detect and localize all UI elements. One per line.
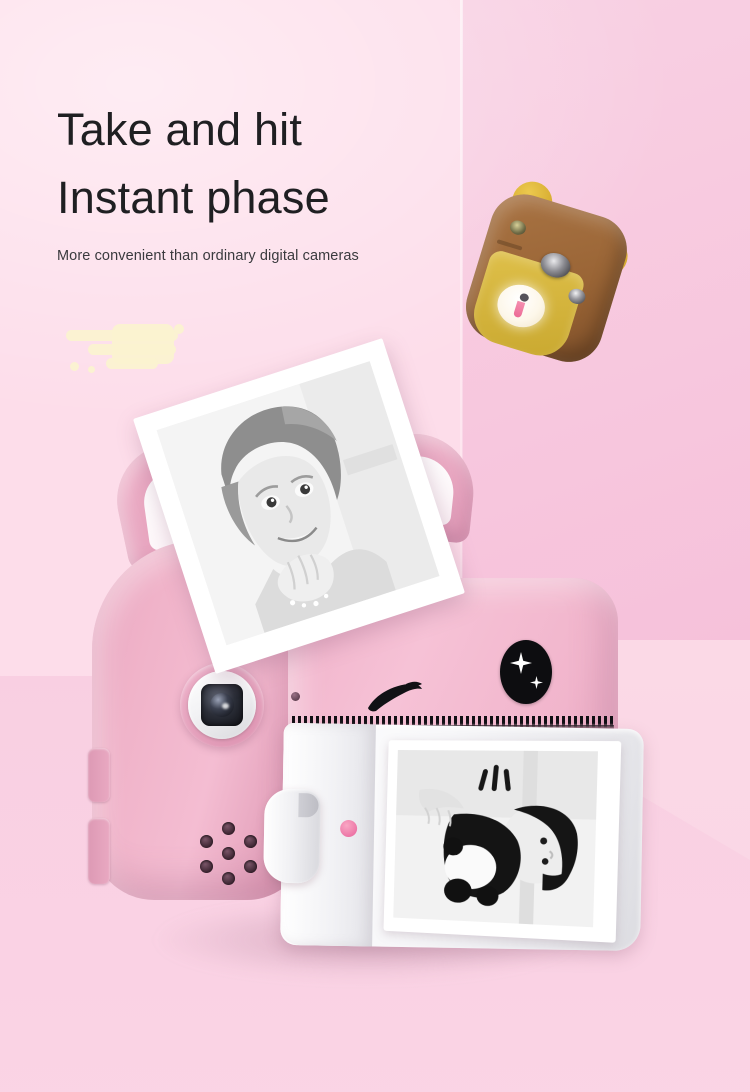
speaker-hole	[222, 872, 235, 885]
instant-photo-image	[157, 361, 440, 645]
emerging-photo-print	[383, 740, 621, 943]
camera-wink-eye-icon	[366, 678, 424, 712]
speed-line-bar-1	[66, 330, 178, 341]
speaker-hole	[222, 847, 235, 860]
speaker-hole	[244, 835, 257, 848]
speed-line-bar-2	[88, 344, 176, 355]
sparkle-small-icon	[530, 676, 543, 689]
advertisement-canvas: Take and hit Instant phase More convenie…	[0, 0, 750, 1092]
speed-line-dot-1	[174, 324, 184, 334]
speaker-hole	[200, 835, 213, 848]
camera-side-button-1[interactable]	[88, 748, 110, 802]
camera-lens-highlight	[222, 703, 229, 709]
headline-subtitle: More convenient than ordinary digital ca…	[57, 248, 537, 264]
speed-line-dot-3	[88, 366, 95, 373]
camera-strap-lug[interactable]	[263, 789, 321, 884]
camera-lens-ring	[188, 671, 256, 739]
speed-line-bar-3	[106, 358, 158, 369]
camera-side-button-2[interactable]	[88, 818, 110, 884]
speaker-hole	[200, 860, 213, 873]
headline-line-1: Take and hit	[57, 96, 537, 164]
camera-sensor-dot	[291, 692, 300, 701]
bear-side-eye-icon	[508, 219, 527, 237]
camera-lens-barrel	[201, 684, 243, 726]
speed-line-dot-2	[70, 362, 79, 371]
bear-tongue-icon	[513, 301, 525, 319]
speaker-hole	[222, 822, 235, 835]
printer-tray	[280, 723, 644, 951]
headline-block: Take and hit Instant phase More convenie…	[57, 96, 537, 264]
speed-lines-icon	[62, 318, 242, 380]
camera-eye-icon	[500, 640, 552, 704]
camera-speaker-grille	[198, 822, 260, 884]
camera-lens-glass-icon	[210, 693, 234, 717]
bear-slot	[497, 239, 523, 250]
headline-line-2: Instant phase	[57, 164, 537, 232]
camera-lens-bezel	[180, 663, 264, 747]
strap-lug-notch	[298, 793, 318, 817]
speaker-hole	[244, 860, 257, 873]
sparkle-large-icon	[510, 652, 532, 674]
emerging-photo-image	[393, 750, 598, 927]
